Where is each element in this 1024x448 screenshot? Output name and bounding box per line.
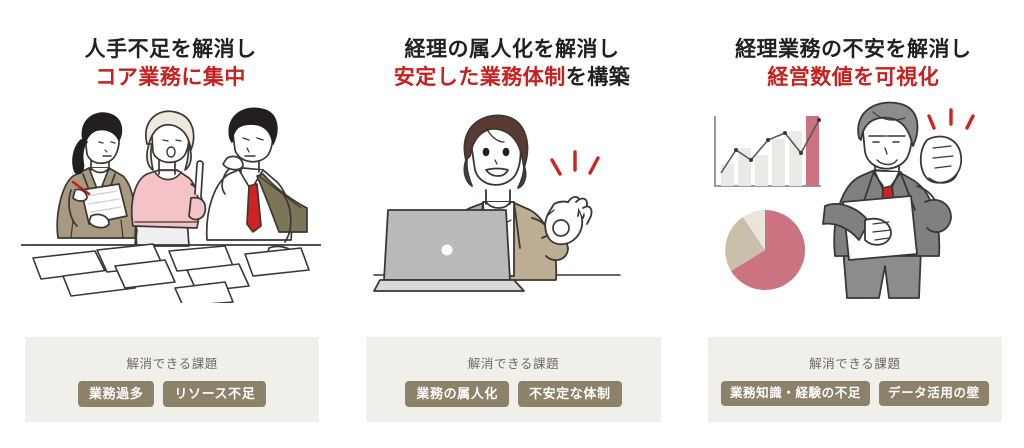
feature-column-2: 経理の属人化を解消し 安定した業務体制を構築: [341, 0, 682, 448]
feature-column-1: 人手不足を解消し コア業務に集中: [0, 0, 341, 448]
issue-tag[interactable]: 業務の属人化: [405, 381, 509, 407]
pie-chart-graphic: [726, 210, 806, 290]
panel-label: 解消できる課題: [809, 353, 900, 372]
issue-tag[interactable]: 不安定な体制: [518, 381, 622, 407]
solvable-issues-panel-1: 解消できる課題 業務過多 リソース不足: [25, 337, 319, 422]
emphasis-marks: [552, 152, 598, 174]
heading-tail-text: を構築: [566, 66, 631, 89]
issue-tag[interactable]: データ活用の壁: [879, 381, 989, 407]
emphasis-marks: [929, 110, 973, 128]
heading-line-1: 経理の属人化を解消し: [394, 36, 631, 64]
heading-line-1: 経理業務の不安を解消し: [735, 36, 972, 64]
panel-label: 解消できる課題: [126, 353, 217, 372]
heading-line-2: コア業務に集中: [85, 64, 257, 92]
illustration-businessman-with-charts: [693, 98, 1013, 303]
illustration-three-people-meeting: [11, 98, 331, 303]
issue-tag[interactable]: 業務過多: [78, 381, 154, 407]
feature-column-3: 経理業務の不安を解消し 経営数値を可視化: [683, 0, 1024, 448]
feature-columns-board: 人手不足を解消し コア業務に集中: [0, 0, 1024, 448]
tag-row: 業務の属人化 不安定な体制: [405, 381, 621, 407]
heading-line-1: 人手不足を解消し: [85, 36, 257, 64]
column-1-heading: 人手不足を解消し コア業務に集中: [85, 36, 257, 92]
issue-tag[interactable]: リソース不足: [163, 381, 266, 407]
issue-tag[interactable]: 業務知識・経験の不足: [721, 381, 870, 407]
column-3-heading: 経理業務の不安を解消し 経営数値を可視化: [735, 36, 972, 92]
heading-accent-text: コア業務に集中: [95, 66, 246, 89]
tag-row: 業務過多 リソース不足: [78, 381, 266, 407]
bar-chart-graphic: [715, 116, 821, 186]
column-2-heading: 経理の属人化を解消し 安定した業務体制を構築: [394, 36, 631, 92]
heading-line-2: 経営数値を可視化: [735, 64, 972, 92]
heading-accent-text: 経営数値を可視化: [767, 66, 939, 89]
solvable-issues-panel-3: 解消できる課題 業務知識・経験の不足 データ活用の壁: [708, 337, 1002, 422]
heading-line-2: 安定した業務体制を構築: [394, 64, 631, 92]
tag-row: 業務知識・経験の不足 データ活用の壁: [721, 381, 989, 407]
illustration-woman-laptop-ok: [352, 98, 672, 303]
panel-label: 解消できる課題: [468, 353, 559, 372]
solvable-issues-panel-2: 解消できる課題 業務の属人化 不安定な体制: [366, 337, 660, 422]
heading-accent-text: 安定した業務体制: [394, 66, 566, 89]
